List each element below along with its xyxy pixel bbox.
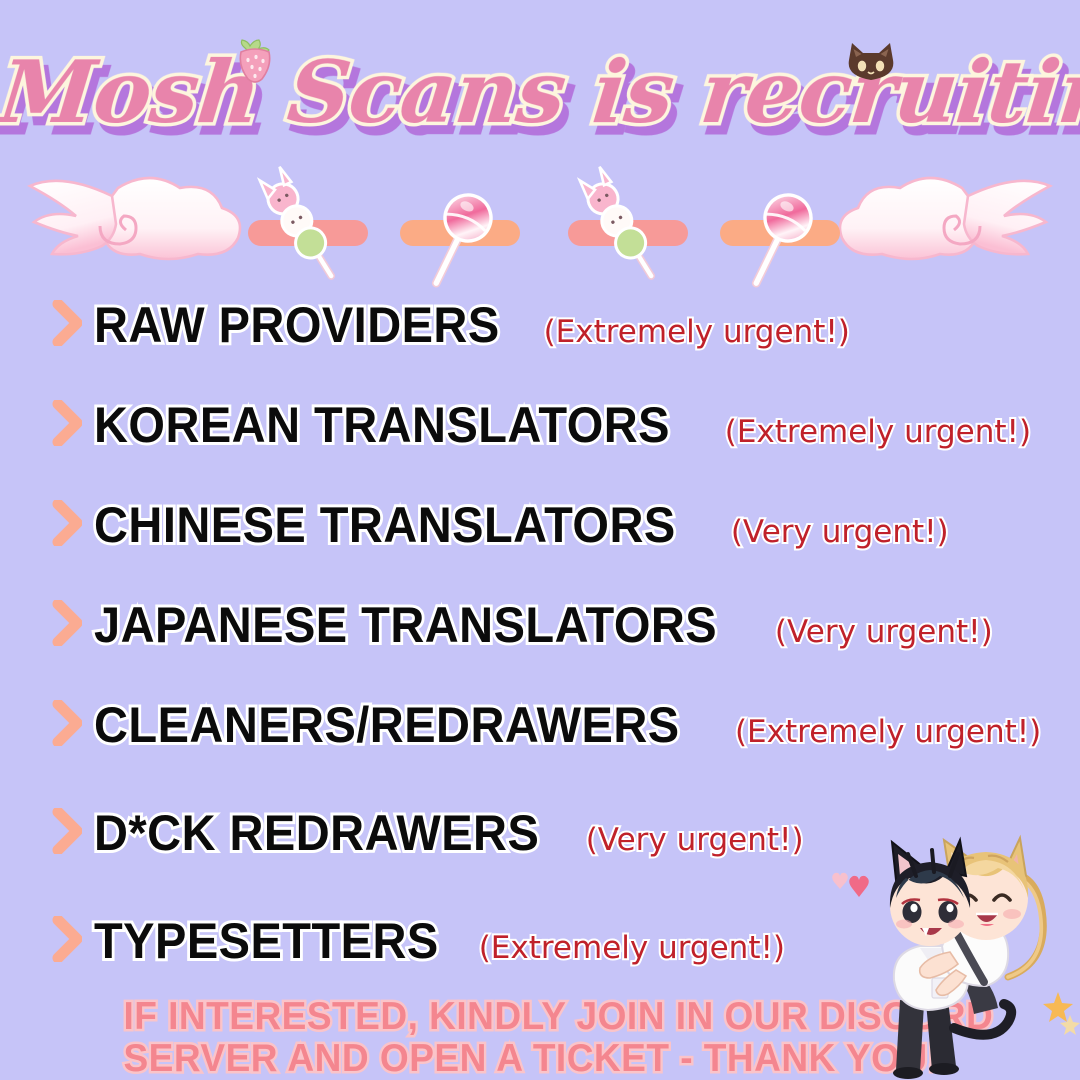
role-urgency: (Extremely urgent!): [544, 317, 850, 348]
winged-cloud-right-icon: [840, 178, 1050, 259]
role-name: JAPANESE TRANSLATORS: [94, 600, 717, 650]
recruitment-poster: Mosh Scans is recruiting!: [0, 0, 1080, 1080]
role-name: KOREAN TRANSLATORS: [94, 400, 670, 450]
role-urgency: (Very urgent!): [586, 825, 804, 856]
heart-icon: [849, 876, 869, 897]
role-name: CLEANERS/REDRAWERS: [94, 700, 680, 750]
footer-cta: IF INTERESTED, KINDLY JOIN IN OUR DISCOR…: [104, 996, 884, 1080]
role-name: RAW PROVIDERS: [94, 300, 500, 350]
page-title: Mosh Scans is recruiting!: [0, 34, 1080, 152]
list-item: D*CK REDRAWERS (Very urgent!): [52, 804, 804, 858]
list-item: CHINESE TRANSLATORS (Very urgent!): [52, 496, 949, 550]
header-banner: Mosh Scans is recruiting!: [0, 34, 1080, 154]
chevron-right-icon: [52, 916, 82, 962]
list-item: RAW PROVIDERS (Extremely urgent!): [52, 296, 850, 350]
strawberry-icon: [232, 36, 278, 86]
role-urgency: (Very urgent!): [731, 517, 949, 548]
cat-head-icon: [842, 40, 900, 92]
chevron-right-icon: [52, 400, 82, 446]
role-name: D*CK REDRAWERS: [94, 808, 539, 858]
list-item: KOREAN TRANSLATORS (Extremely urgent!): [52, 396, 1031, 450]
list-item: TYPESETTERS (Extremely urgent!): [52, 912, 785, 966]
role-urgency: (Extremely urgent!): [735, 717, 1041, 748]
chevron-right-icon: [52, 700, 82, 746]
role-name: TYPESETTERS: [94, 916, 439, 966]
chevron-right-icon: [52, 300, 82, 346]
decorative-divider: [0, 160, 1080, 290]
chibi-catboys-illustration: [808, 832, 1080, 1080]
footer-line-1: IF INTERESTED, KINDLY JOIN IN OUR DISCOR…: [124, 996, 865, 1038]
footer-line-2: SERVER AND OPEN A TICKET - THANK YOU!: [124, 1038, 865, 1080]
role-urgency: (Very urgent!): [775, 617, 993, 648]
chevron-right-icon: [52, 808, 82, 854]
list-item: JAPANESE TRANSLATORS (Very urgent!): [52, 596, 993, 650]
heart-icon: [832, 873, 848, 889]
role-urgency: (Extremely urgent!): [479, 933, 785, 964]
role-name: CHINESE TRANSLATORS: [94, 500, 676, 550]
winged-cloud-left-icon: [30, 178, 240, 259]
chevron-right-icon: [52, 600, 82, 646]
chevron-right-icon: [52, 500, 82, 546]
role-urgency: (Extremely urgent!): [725, 417, 1031, 448]
star-icon: [1043, 992, 1073, 1022]
list-item: CLEANERS/REDRAWERS (Extremely urgent!): [52, 696, 1041, 750]
